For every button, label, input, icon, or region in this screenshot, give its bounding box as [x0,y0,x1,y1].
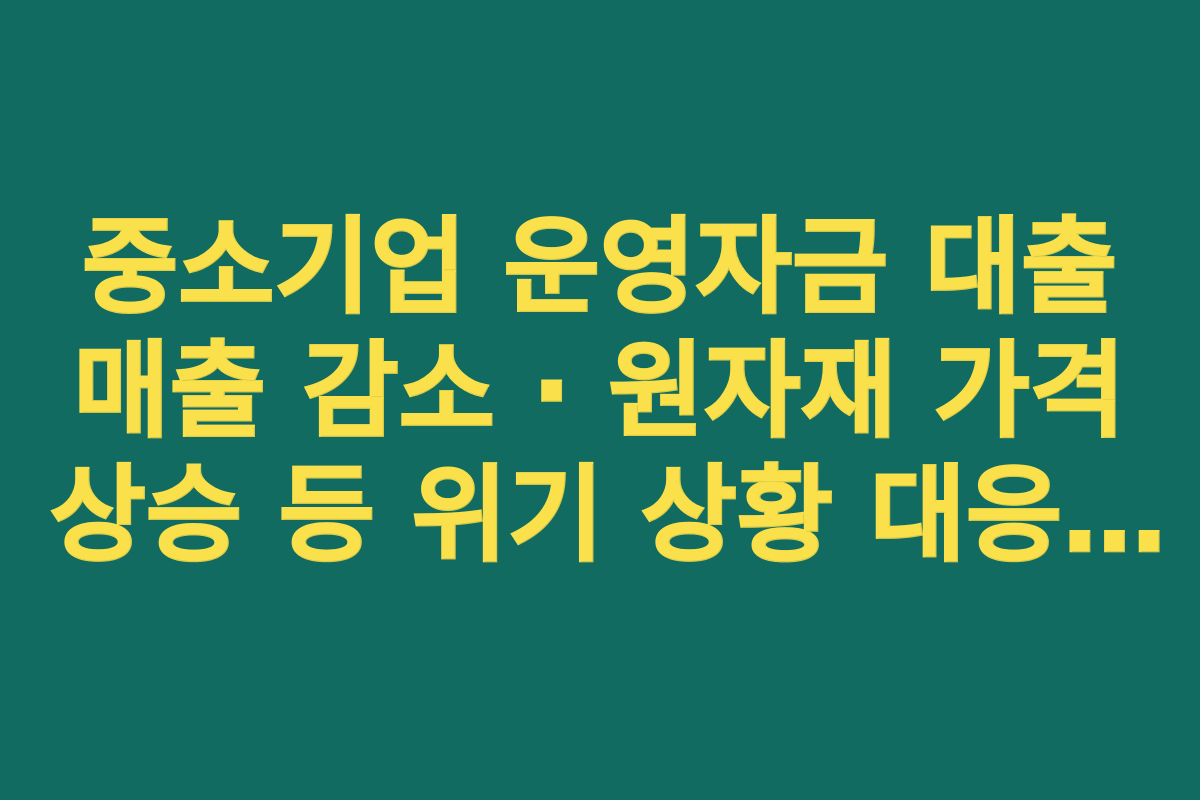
headline-line-3: 상승 등 위기 상황 대응… [50,453,1150,577]
banner-canvas: 중소기업 운영자금 대출 매출 감소 · 원자재 가격 상승 등 위기 상황 대… [0,0,1200,800]
headline-block: 중소기업 운영자금 대출 매출 감소 · 원자재 가격 상승 등 위기 상황 대… [50,205,1150,577]
headline-line-1: 중소기업 운영자금 대출 [50,205,1150,329]
headline-line-2: 매출 감소 · 원자재 가격 [50,329,1150,453]
